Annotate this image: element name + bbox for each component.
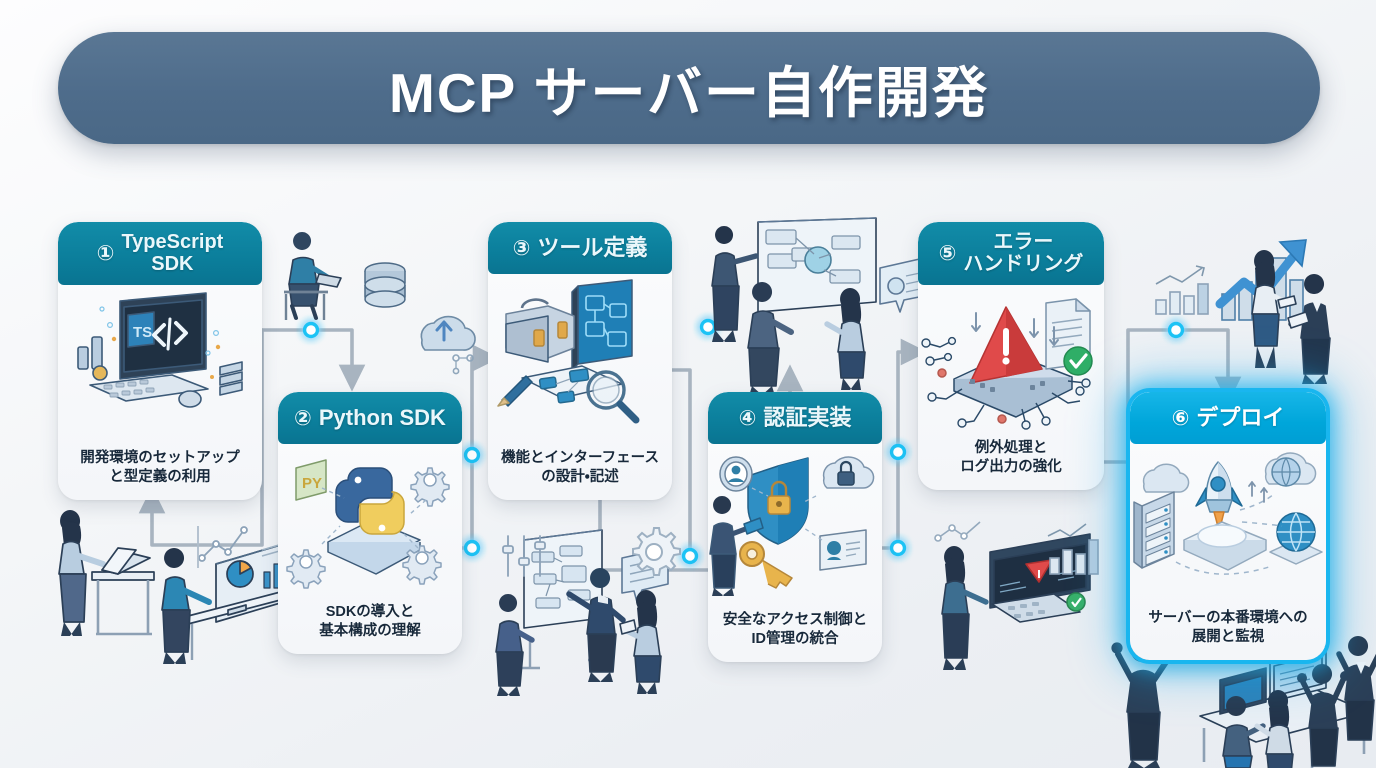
step-card-1[interactable]: ① TypeScript SDK TS bbox=[58, 222, 262, 500]
warning-chip-icon bbox=[918, 285, 1104, 435]
step-card-6[interactable]: ⑥ デプロイ bbox=[1130, 392, 1326, 660]
two-businesspeople-illustration bbox=[1238, 250, 1358, 390]
person-laptop-seated-illustration bbox=[272, 228, 358, 324]
step-title-2: Python SDK bbox=[319, 406, 446, 431]
step-number-5: ⑤ bbox=[939, 243, 957, 264]
whiteboard-presentation-illustration bbox=[494, 524, 724, 690]
toolbox-blueprint-icon bbox=[488, 274, 672, 445]
step-card-4[interactable]: ④ 認証実装 bbox=[708, 392, 882, 662]
step-card-2-header: ② Python SDK bbox=[278, 392, 462, 444]
whiteboard-meeting-illustration bbox=[700, 214, 926, 390]
bar-chart-doodle-icon bbox=[1044, 524, 1108, 580]
step-card-3[interactable]: ③ ツール定義 bbox=[488, 222, 672, 500]
step-number-2: ② bbox=[294, 408, 312, 429]
step-card-3-header: ③ ツール定義 bbox=[488, 222, 672, 274]
step-card-5[interactable]: ⑤ エラー ハンドリング bbox=[918, 222, 1104, 490]
step-card-5-header: ⑤ エラー ハンドリング bbox=[918, 222, 1104, 285]
step-number-6: ⑥ bbox=[1172, 408, 1190, 429]
step-number-1: ① bbox=[97, 243, 115, 264]
step-caption-3: 機能とインターフェース の設計・記述 bbox=[488, 445, 672, 500]
step-card-6-header: ⑥ デプロイ bbox=[1130, 392, 1326, 444]
growth-arrow-chart-illustration bbox=[1218, 228, 1328, 338]
step-card-2[interactable]: ② Python SDK PY bbox=[278, 392, 462, 654]
page-title-banner: MCP サーバー自作開発 bbox=[58, 32, 1320, 144]
step-title-3: ツール定義 bbox=[537, 236, 647, 261]
python-logo-icon: PY bbox=[278, 444, 462, 599]
step-title-5: エラー ハンドリング bbox=[963, 231, 1083, 276]
step-number-4: ④ bbox=[739, 408, 757, 429]
step-caption-2: SDKの導入と 基本構成の理解 bbox=[278, 599, 462, 654]
rocket-server-icon bbox=[1130, 444, 1326, 605]
step-title-6: デプロイ bbox=[1196, 406, 1284, 431]
step-title-4: 認証実装 bbox=[763, 406, 851, 431]
step-caption-6: サーバーの本番環境への 展開と監視 bbox=[1130, 605, 1326, 660]
step-card-4-header: ④ 認証実装 bbox=[708, 392, 882, 444]
bar-chart-doodle-small-icon bbox=[1150, 260, 1220, 322]
step-card-1-header: ① TypeScript SDK bbox=[58, 222, 262, 285]
database-stack-icon bbox=[358, 258, 414, 320]
gear-doodle-icon bbox=[624, 522, 684, 582]
step-caption-5: 例外処理と ログ出力の強化 bbox=[918, 435, 1104, 490]
step-caption-4: 安全なアクセス制御と ID管理の統合 bbox=[708, 607, 882, 662]
step-number-3: ③ bbox=[513, 238, 531, 259]
monitor-code-icon: TS bbox=[58, 285, 262, 445]
step-title-1: TypeScript SDK bbox=[121, 231, 223, 276]
slider-controls-doodle-icon bbox=[498, 530, 556, 584]
woman-standing-desk-illustration bbox=[40, 512, 170, 652]
infographic-canvas: MCP サーバー自作開発 bbox=[0, 0, 1376, 768]
step-caption-1: 開発環境のセットアップ と型定義の利用 bbox=[58, 445, 262, 500]
svg-text:PY: PY bbox=[302, 475, 322, 492]
line-chart-doodle-icon bbox=[196, 520, 266, 570]
svg-text:TS: TS bbox=[133, 324, 152, 341]
woman-monitor-alert-illustration bbox=[930, 530, 1110, 680]
page-title: MCP サーバー自作開発 bbox=[389, 48, 989, 128]
cloud-upload-icon bbox=[404, 300, 488, 376]
shield-lock-icon bbox=[708, 444, 882, 607]
